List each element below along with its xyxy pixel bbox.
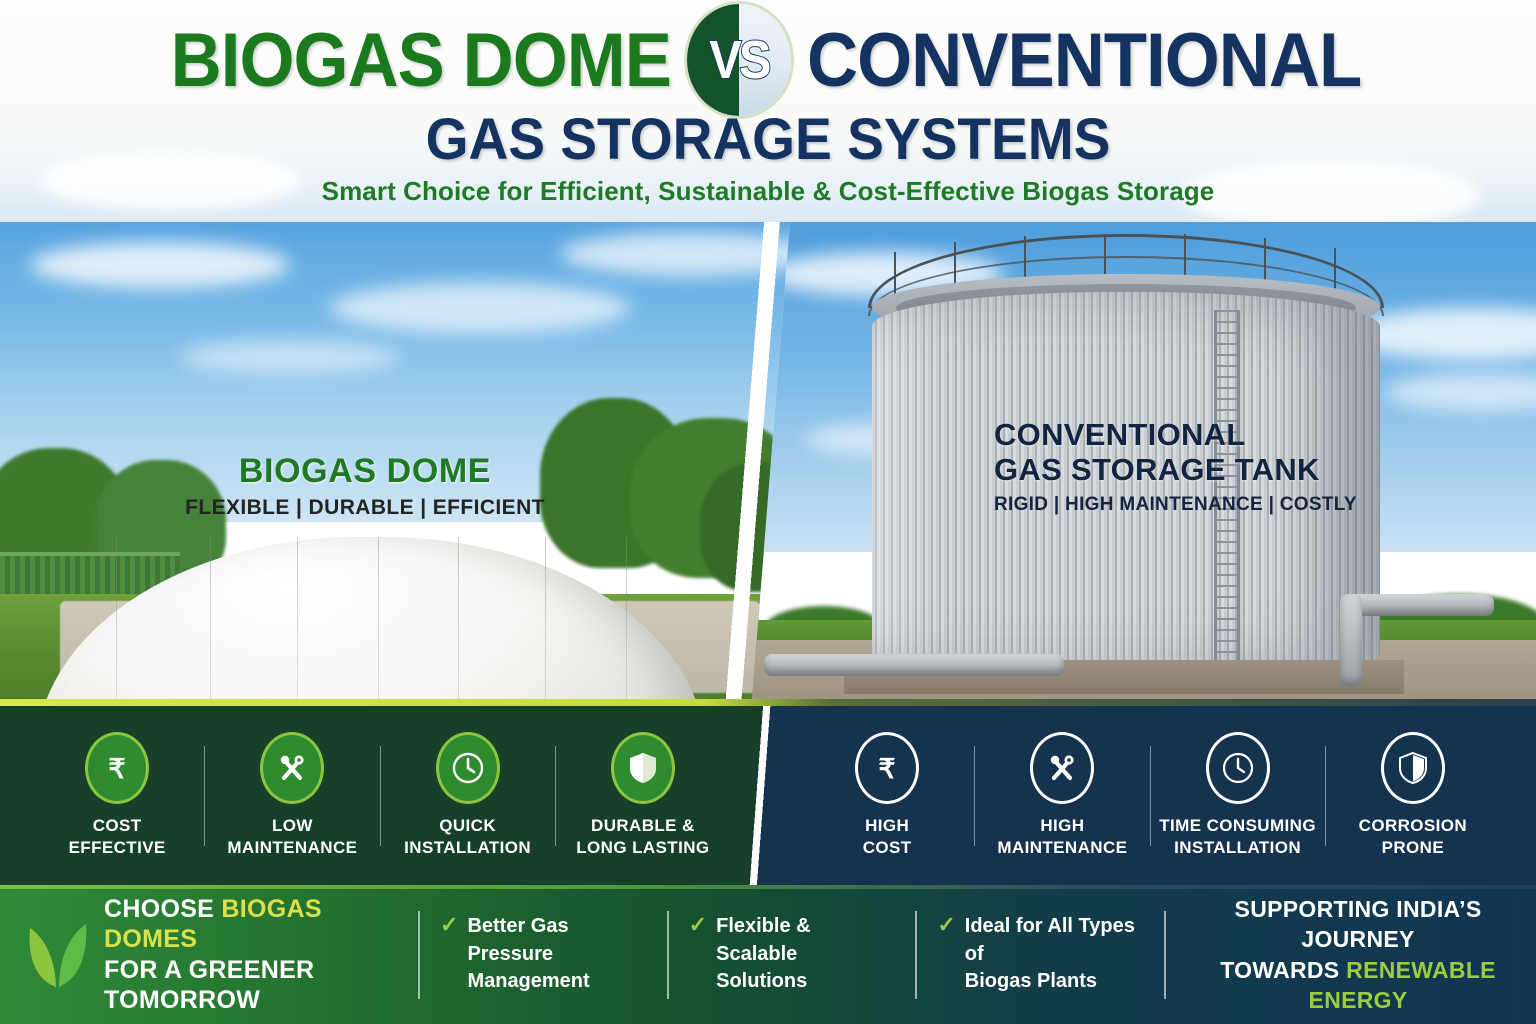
benefit-label-line2: MAINTENANCE bbox=[227, 837, 357, 859]
rupee-icon: ₹ bbox=[85, 732, 149, 804]
header-banner: BIOGAS DOME VS CONVENTIONAL GAS STORAGE … bbox=[0, 0, 1536, 222]
footer-cta-bar: CHOOSE BIOGAS DOMES FOR A GREENER TOMORR… bbox=[0, 885, 1536, 1024]
clock-icon bbox=[1206, 732, 1270, 804]
benefit-label-line2: INSTALLATION bbox=[404, 837, 531, 859]
footer-point-line1: Better Gas Pressure bbox=[467, 915, 568, 965]
footer-point-line1: Flexible & Scalable bbox=[716, 915, 810, 965]
drawback-item-corrosion-prone[interactable]: CORROSION PRONE bbox=[1326, 732, 1500, 860]
footer-tagline-line1: SUPPORTING INDIA’S JOURNEY bbox=[1196, 894, 1520, 955]
drawback-label-line2: INSTALLATION bbox=[1159, 837, 1316, 859]
footer-point-line2: Management bbox=[467, 970, 589, 992]
tools-icon bbox=[1030, 732, 1094, 804]
biogas-dome-caption-title: BIOGAS DOME bbox=[0, 452, 730, 491]
leaf-icon bbox=[26, 914, 88, 995]
footer-point-2[interactable]: ✓ Flexible & Scalable Solutions bbox=[669, 913, 916, 996]
conventional-tank-caption-line2: GAS STORAGE TANK bbox=[994, 453, 1414, 488]
clock-icon bbox=[436, 732, 500, 804]
drawback-label-line1: TIME CONSUMING bbox=[1159, 815, 1316, 837]
benefit-item-low-maintenance[interactable]: LOW MAINTENANCE bbox=[205, 732, 379, 860]
benefit-label-line1: COST bbox=[69, 815, 166, 837]
drawback-label-line2: COST bbox=[863, 837, 912, 859]
tank-outlet-pipe bbox=[1344, 594, 1494, 616]
rupee-icon: ₹ bbox=[855, 732, 919, 804]
footer-cta-line1: CHOOSE BIOGAS DOMES bbox=[104, 894, 418, 955]
drawback-item-time-consuming[interactable]: TIME CONSUMING INSTALLATION bbox=[1151, 732, 1325, 860]
benefits-right-list: ₹ HIGH COST bbox=[800, 706, 1500, 885]
accent-divider-line bbox=[0, 699, 1536, 706]
drawback-item-high-maintenance[interactable]: HIGH MAINTENANCE bbox=[975, 732, 1149, 860]
tools-icon bbox=[260, 732, 324, 804]
svg-text:₹: ₹ bbox=[109, 754, 126, 784]
benefit-label-line1: DURABLE & bbox=[576, 815, 709, 837]
drawback-label-line2: MAINTENANCE bbox=[997, 837, 1127, 859]
shield-icon bbox=[611, 732, 675, 804]
footer-point-line2: Biogas Plants bbox=[965, 970, 1097, 992]
check-icon: ✓ bbox=[440, 913, 458, 937]
subtitle: Smart Choice for Efficient, Sustainable … bbox=[0, 176, 1536, 207]
benefit-label-line1: QUICK bbox=[404, 815, 531, 837]
check-icon: ✓ bbox=[689, 913, 707, 937]
footer-top-accent bbox=[0, 885, 1536, 889]
footer-cta-block: CHOOSE BIOGAS DOMES FOR A GREENER TOMORR… bbox=[0, 894, 418, 1016]
footer-point-1[interactable]: ✓ Better Gas Pressure Management bbox=[420, 913, 667, 996]
biogas-dome-caption: BIOGAS DOME FLEXIBLE | DURABLE | EFFICIE… bbox=[0, 452, 730, 520]
drawback-item-high-cost[interactable]: ₹ HIGH COST bbox=[800, 732, 974, 860]
footer-point-line1: Ideal for All Types of bbox=[965, 915, 1135, 965]
drawback-label-line2: PRONE bbox=[1359, 837, 1467, 859]
tank-inlet-pipe bbox=[764, 654, 1064, 676]
benefits-strips: ₹ COST EFFECTIVE bbox=[0, 699, 1536, 885]
main-title-row: BIOGAS DOME VS CONVENTIONAL bbox=[0, 14, 1536, 106]
drawback-label-line1: HIGH bbox=[863, 815, 912, 837]
check-icon: ✓ bbox=[937, 913, 955, 937]
benefit-label-line1: LOW bbox=[227, 815, 357, 837]
drawback-label-line1: HIGH bbox=[997, 815, 1127, 837]
svg-text:₹: ₹ bbox=[879, 754, 896, 784]
infographic-canvas: BIOGAS DOME VS CONVENTIONAL GAS STORAGE … bbox=[0, 0, 1536, 1024]
drawback-label-line1: CORROSION bbox=[1359, 815, 1467, 837]
conventional-tank-caption-line1: CONVENTIONAL bbox=[994, 418, 1414, 453]
conventional-tank-caption-tags: RIGID | HIGH MAINTENANCE | COSTLY bbox=[994, 494, 1414, 516]
biogas-dome-caption-tags: FLEXIBLE | DURABLE | EFFICIENT bbox=[0, 496, 730, 520]
benefit-label-line2: EFFECTIVE bbox=[69, 837, 166, 859]
conventional-tank-photo: CONVENTIONAL GAS STORAGE TANK RIGID | HI… bbox=[744, 222, 1536, 699]
conventional-tank-caption: CONVENTIONAL GAS STORAGE TANK RIGID | HI… bbox=[994, 418, 1414, 516]
title-navy-part: CONVENTIONAL bbox=[807, 17, 1361, 104]
benefit-item-cost-effective[interactable]: ₹ COST EFFECTIVE bbox=[30, 732, 204, 860]
title-second-line: GAS STORAGE SYSTEMS bbox=[38, 106, 1497, 173]
footer-point-line2: Solutions bbox=[716, 970, 807, 992]
footer-tagline-line2: TOWARDS RENEWABLE ENERGY bbox=[1196, 955, 1520, 1016]
vs-badge: VS bbox=[687, 4, 791, 116]
benefit-item-durable[interactable]: DURABLE & LONG LASTING bbox=[556, 732, 730, 860]
benefits-left-list: ₹ COST EFFECTIVE bbox=[30, 706, 730, 885]
title-green-part: BIOGAS DOME bbox=[171, 17, 671, 104]
benefit-label-line2: LONG LASTING bbox=[576, 837, 709, 859]
footer-point-3[interactable]: ✓ Ideal for All Types of Biogas Plants bbox=[917, 913, 1164, 996]
tank-downcomer-pipe bbox=[1340, 594, 1362, 686]
vs-badge-label: VS bbox=[692, 4, 786, 116]
footer-tagline: SUPPORTING INDIA’S JOURNEY TOWARDS RENEW… bbox=[1166, 894, 1536, 1015]
footer-tagline-plain: TOWARDS bbox=[1220, 957, 1346, 983]
footer-cta-plain: CHOOSE bbox=[104, 895, 221, 923]
biogas-dome-photo: BIOGAS DOME FLEXIBLE | DURABLE | EFFICIE… bbox=[0, 222, 800, 699]
shield-icon bbox=[1381, 732, 1445, 804]
comparison-photo-band: BIOGAS DOME FLEXIBLE | DURABLE | EFFICIE… bbox=[0, 222, 1536, 699]
benefit-item-quick-installation[interactable]: QUICK INSTALLATION bbox=[381, 732, 555, 860]
footer-cta-line2: FOR A GREENER TOMORROW bbox=[104, 955, 418, 1016]
